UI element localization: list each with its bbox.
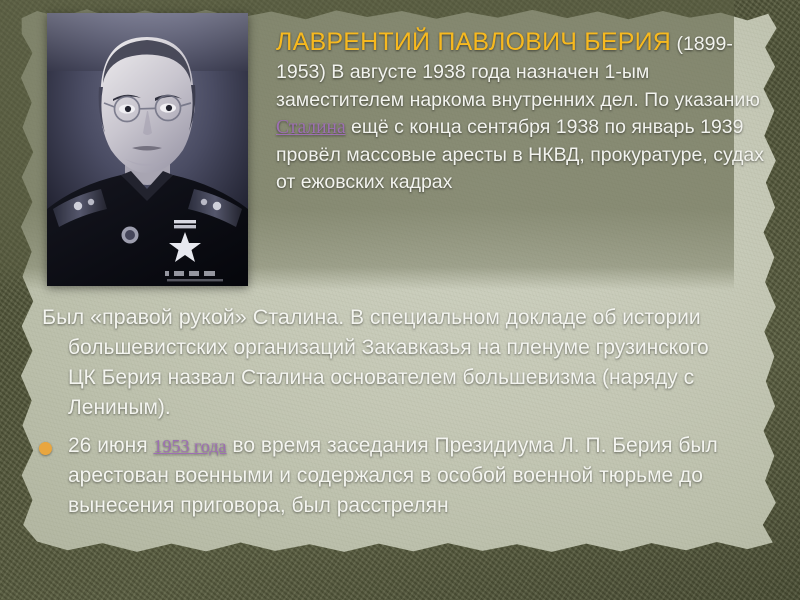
bullet-text: 26 июня 1953 года во время заседания Пре… bbox=[68, 431, 734, 521]
stalin-hyperlink[interactable]: Сталина bbox=[276, 117, 346, 138]
paragraph-lead: Был «правой рукой» Сталина. bbox=[42, 305, 344, 329]
body-content: Был «правой рукой» Сталина. В специально… bbox=[34, 302, 734, 521]
page-title: ЛАВРЕНТИЙ ПАВЛОВИЧ БЕРИЯ bbox=[276, 28, 671, 56]
header-text-block: ЛАВРЕНТИЙ ПАВЛОВИЧ БЕРИЯ (1899-1953) В а… bbox=[276, 26, 774, 197]
bullet-dot-icon bbox=[39, 442, 52, 455]
header-text-before-link: В августе 1938 года назначен 1-ым замест… bbox=[276, 61, 760, 111]
presentation-slide: ЛАВРЕНТИЙ ПАВЛОВИЧ БЕРИЯ (1899-1953) В а… bbox=[0, 0, 800, 600]
portrait-photo bbox=[47, 13, 248, 286]
list-item: 26 июня 1953 года во время заседания Пре… bbox=[34, 431, 734, 521]
portrait-illustration bbox=[47, 13, 248, 286]
bullet-text-before-link: 26 июня bbox=[68, 434, 153, 457]
paragraph-right-hand: Был «правой рукой» Сталина. В специально… bbox=[34, 302, 734, 423]
header-text-after-link: ещё с конца сентября 1938 по январь 1939… bbox=[276, 116, 764, 193]
year-1953-hyperlink[interactable]: 1953 года bbox=[153, 436, 226, 456]
